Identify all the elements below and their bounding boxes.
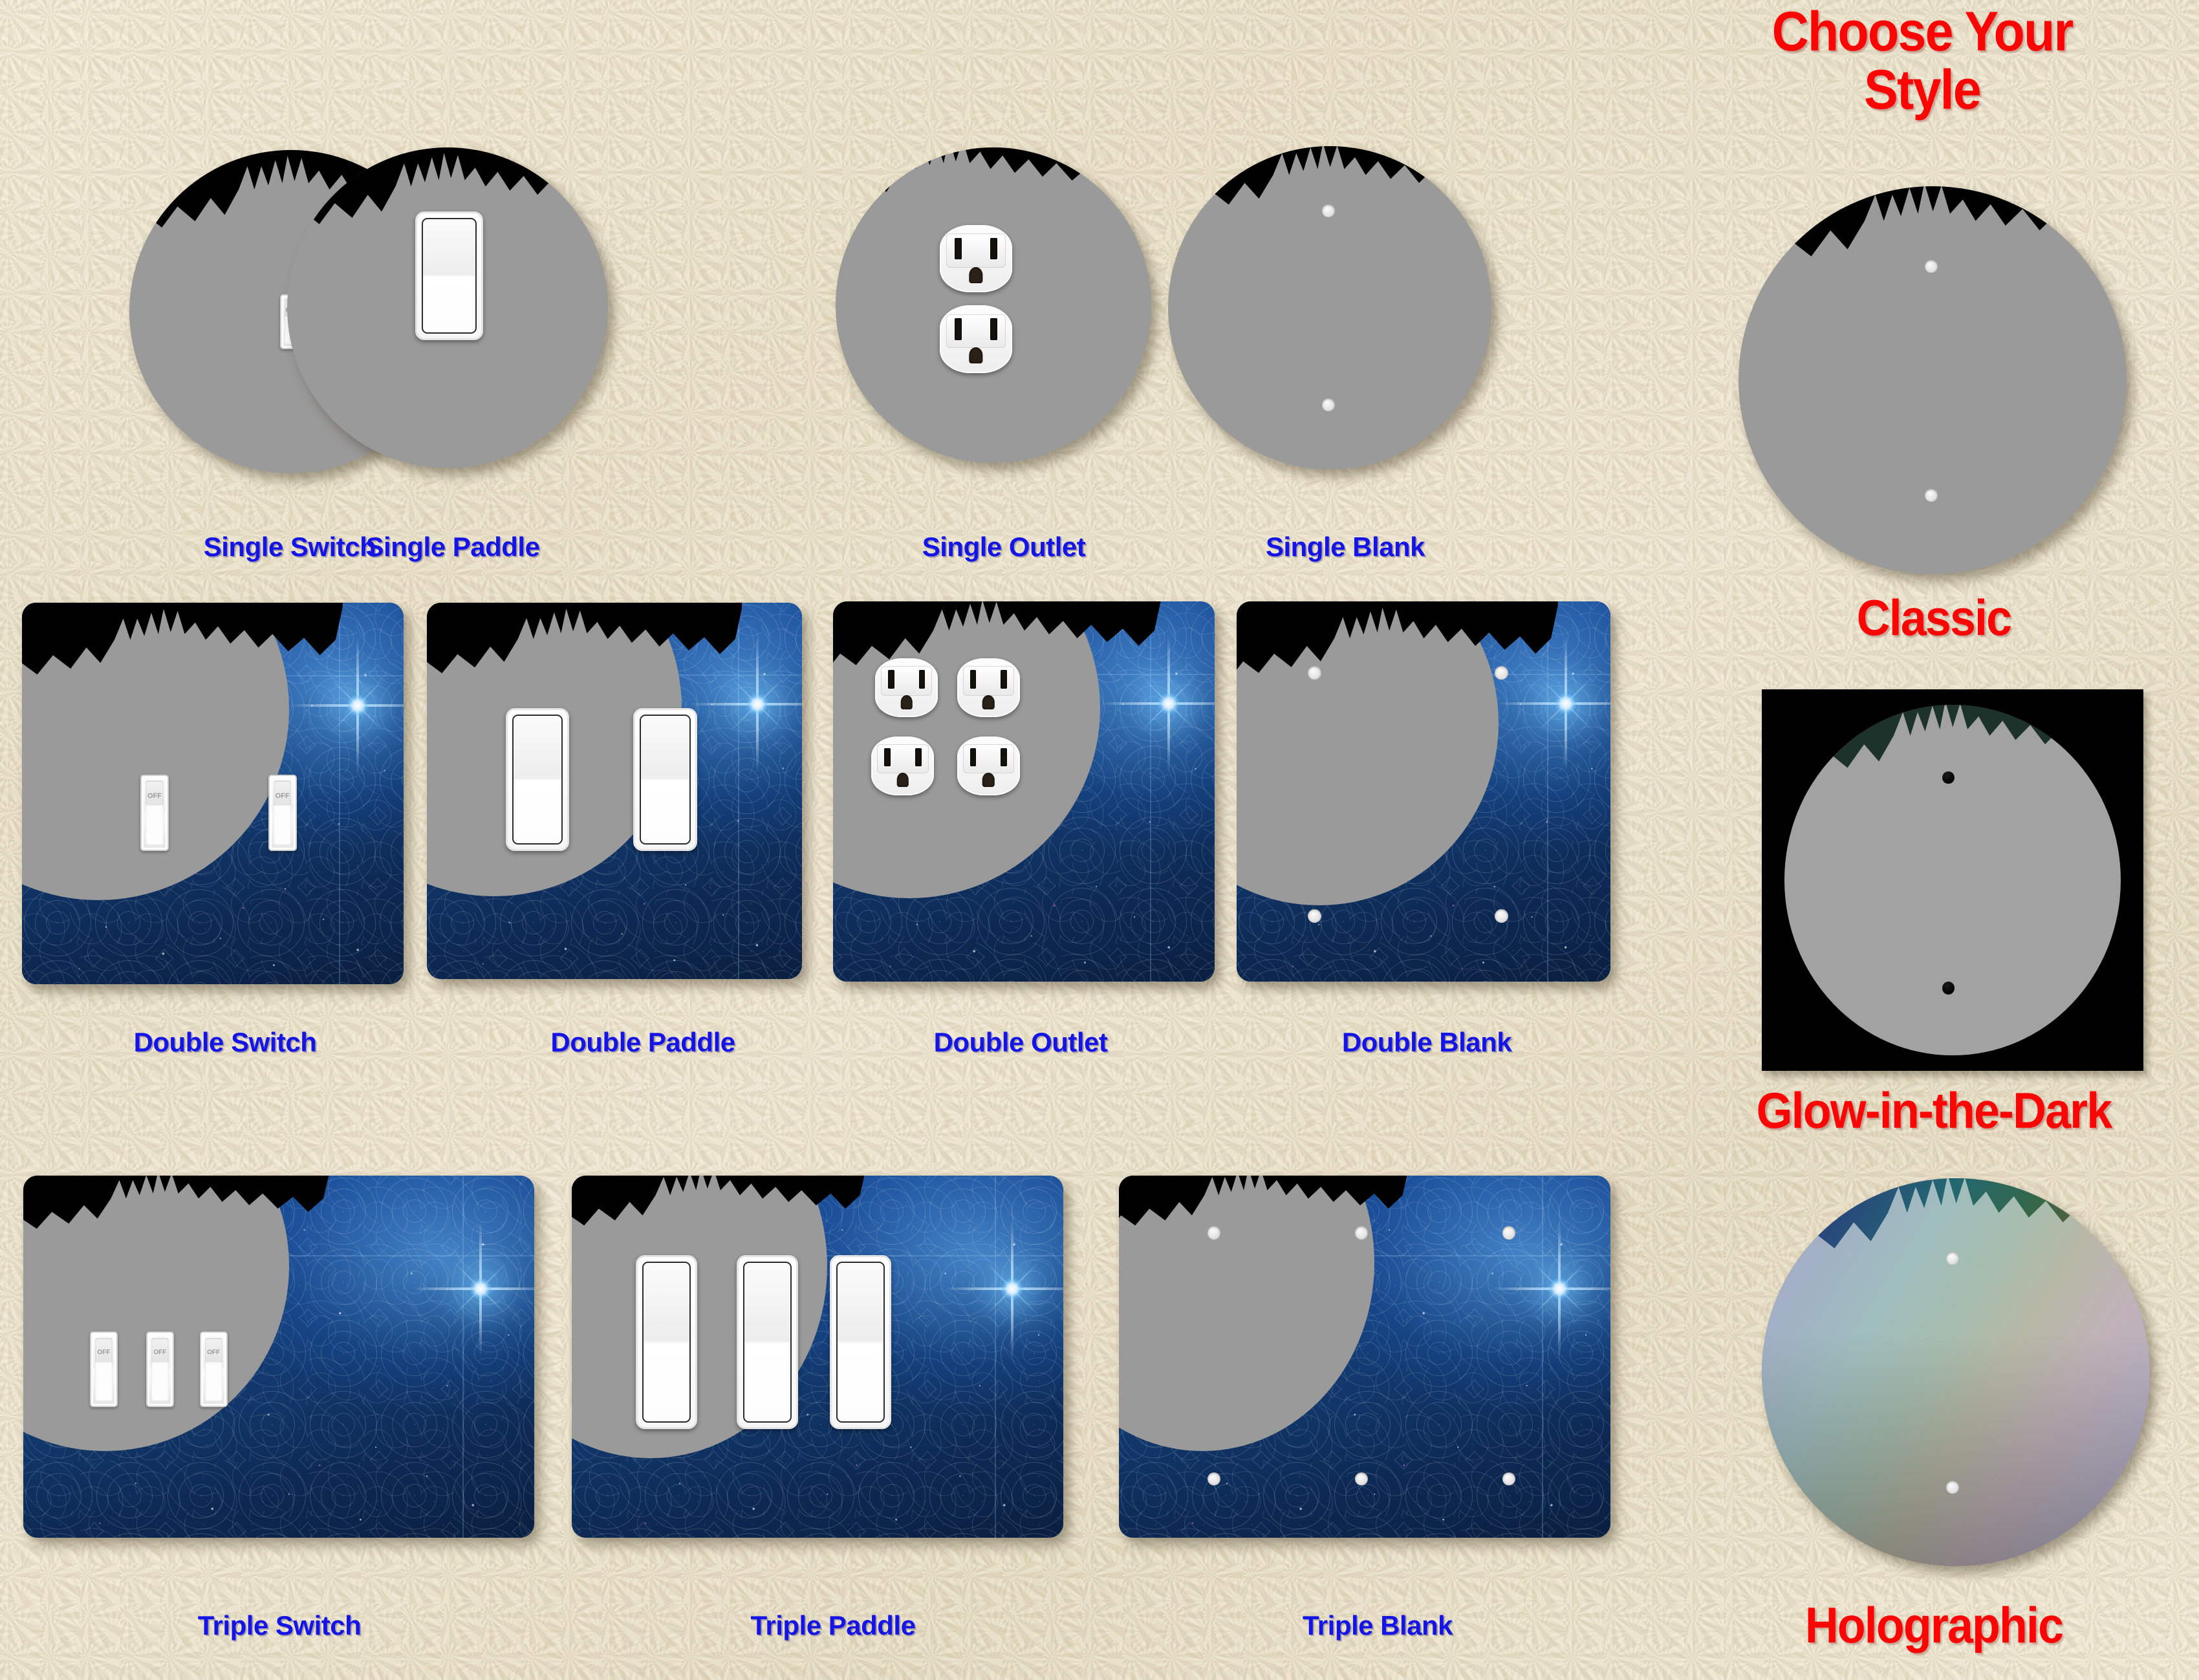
paddle-switch[interactable]: [633, 708, 697, 851]
paddle-switch[interactable]: [830, 1255, 891, 1429]
product-single-blank[interactable]: [1168, 146, 1491, 469]
glow-moon-plate: [1784, 705, 2120, 1056]
grid-line: [462, 1176, 464, 1538]
paddle-face: [836, 1262, 885, 1423]
toggle-switch[interactable]: OFF: [200, 1331, 228, 1408]
choose-style-title-line2: Style: [1864, 58, 1980, 122]
screw-hole: [1355, 1226, 1368, 1239]
style-swatch-classic[interactable]: [1739, 186, 2127, 574]
grid-line: [1542, 1176, 1543, 1538]
style-label-holographic: Holographic: [1805, 1596, 2063, 1655]
screw-hole: [1308, 666, 1321, 680]
label-double-switch: Double Switch: [134, 1027, 317, 1058]
toggle-lever: [274, 781, 291, 844]
style-label-glow: Glow-in-the-Dark: [1757, 1081, 2112, 1140]
toggle-switch[interactable]: OFF: [90, 1331, 118, 1408]
outlet-slot-right: [990, 238, 997, 259]
bat-silhouette-icon: [1119, 1176, 1409, 1302]
toggle-switch[interactable]: OFF: [146, 1331, 174, 1408]
style-label-classic: Classic: [1857, 588, 2011, 647]
paddle-face: [640, 715, 691, 845]
bat-silhouette-icon: [1237, 601, 1558, 761]
screw-hole: [1502, 1226, 1515, 1239]
toggle-lever: [205, 1338, 222, 1401]
product-triple-blank[interactable]: [1119, 1176, 1610, 1538]
toggle-off-label: OFF: [91, 1349, 116, 1356]
holographic-shadow: [1762, 1178, 2150, 1566]
label-single-outlet: Single Outlet: [922, 532, 1086, 563]
toggle-lever: [146, 781, 163, 844]
outlet-slot-left: [955, 318, 962, 339]
outlet-receptacle[interactable]: [957, 737, 1020, 795]
toggle-switch[interactable]: OFF: [140, 775, 169, 851]
outlet-slot-row: [948, 316, 1004, 346]
paddle-face: [642, 1262, 691, 1423]
paddle-face: [422, 218, 476, 333]
label-single-paddle: Single Paddle: [366, 532, 540, 563]
label-double-blank: Double Blank: [1342, 1027, 1511, 1058]
product-triple-switch[interactable]: OFF OFF OFF: [23, 1176, 534, 1538]
outlet-slot-row: [948, 235, 1004, 265]
screw-hole: [1308, 909, 1321, 923]
grid-line: [995, 1176, 996, 1538]
choose-style-title-line1: Choose Your: [1772, 0, 2073, 64]
bat-silhouette-icon: [22, 603, 343, 763]
bat-silhouette-icon: [1784, 705, 2120, 874]
outlet-receptacle[interactable]: [940, 225, 1012, 293]
paddle-switch[interactable]: [415, 211, 482, 339]
screw-hole: [1355, 1472, 1368, 1485]
screw-hole: [1322, 204, 1335, 217]
outlet-receptacle[interactable]: [940, 305, 1012, 373]
paddle-switch[interactable]: [506, 708, 570, 851]
toggle-off-label: OFF: [142, 792, 168, 800]
outlet-ground-hole: [969, 347, 982, 363]
screw-hole: [1495, 909, 1508, 923]
toggle-lever: [95, 1338, 113, 1401]
label-double-paddle: Double Paddle: [550, 1027, 735, 1058]
screw-hole: [1942, 982, 1955, 995]
style-swatch-glow[interactable]: [1762, 689, 2143, 1071]
paddle-face: [512, 715, 563, 845]
paddle-switch[interactable]: [737, 1255, 798, 1429]
paddle-face: [743, 1262, 792, 1423]
paddle-switch[interactable]: [636, 1255, 697, 1429]
toggle-off-label: OFF: [201, 1349, 226, 1356]
outlet-receptacle[interactable]: [957, 658, 1020, 717]
screw-hole: [1502, 1472, 1515, 1485]
product-single-paddle[interactable]: [287, 147, 608, 468]
outlet-ground-hole: [969, 267, 982, 283]
toggle-off-label: OFF: [147, 1349, 173, 1356]
toggle-switch[interactable]: OFF: [268, 775, 297, 851]
outlet-slot-left: [955, 238, 962, 259]
outlet-receptacle[interactable]: [875, 658, 938, 717]
bat-silhouette-icon: [1168, 146, 1491, 301]
product-double-switch[interactable]: OFF OFF: [22, 603, 404, 984]
bat-silhouette-icon: [1739, 186, 2127, 372]
outlet-receptacle[interactable]: [871, 737, 934, 795]
product-double-blank[interactable]: [1237, 601, 1610, 982]
outlet-slot-right: [990, 318, 997, 339]
style-swatch-holographic[interactable]: [1762, 1178, 2150, 1566]
bat-silhouette-icon: [23, 1176, 330, 1306]
product-double-outlet[interactable]: [833, 601, 1215, 982]
toggle-off-label: OFF: [270, 792, 296, 800]
product-triple-paddle[interactable]: [572, 1176, 1063, 1538]
label-triple-blank: Triple Blank: [1303, 1610, 1453, 1641]
toggle-lever: [151, 1338, 169, 1401]
screw-hole: [1208, 1226, 1220, 1239]
screw-hole: [1322, 398, 1335, 411]
label-triple-switch: Triple Switch: [198, 1610, 362, 1641]
screw-hole: [1208, 1472, 1220, 1485]
label-triple-paddle: Triple Paddle: [751, 1610, 916, 1641]
product-catalog-board: OFF Single Switch Single Paddle: [0, 0, 2199, 1680]
bat-silhouette-icon: [572, 1176, 867, 1302]
product-single-outlet[interactable]: [836, 147, 1151, 463]
label-single-switch: Single Switch: [204, 532, 376, 563]
label-single-blank: Single Blank: [1266, 532, 1425, 563]
product-double-paddle[interactable]: [427, 603, 802, 979]
label-double-outlet: Double Outlet: [934, 1027, 1108, 1058]
screw-hole: [1495, 666, 1508, 680]
